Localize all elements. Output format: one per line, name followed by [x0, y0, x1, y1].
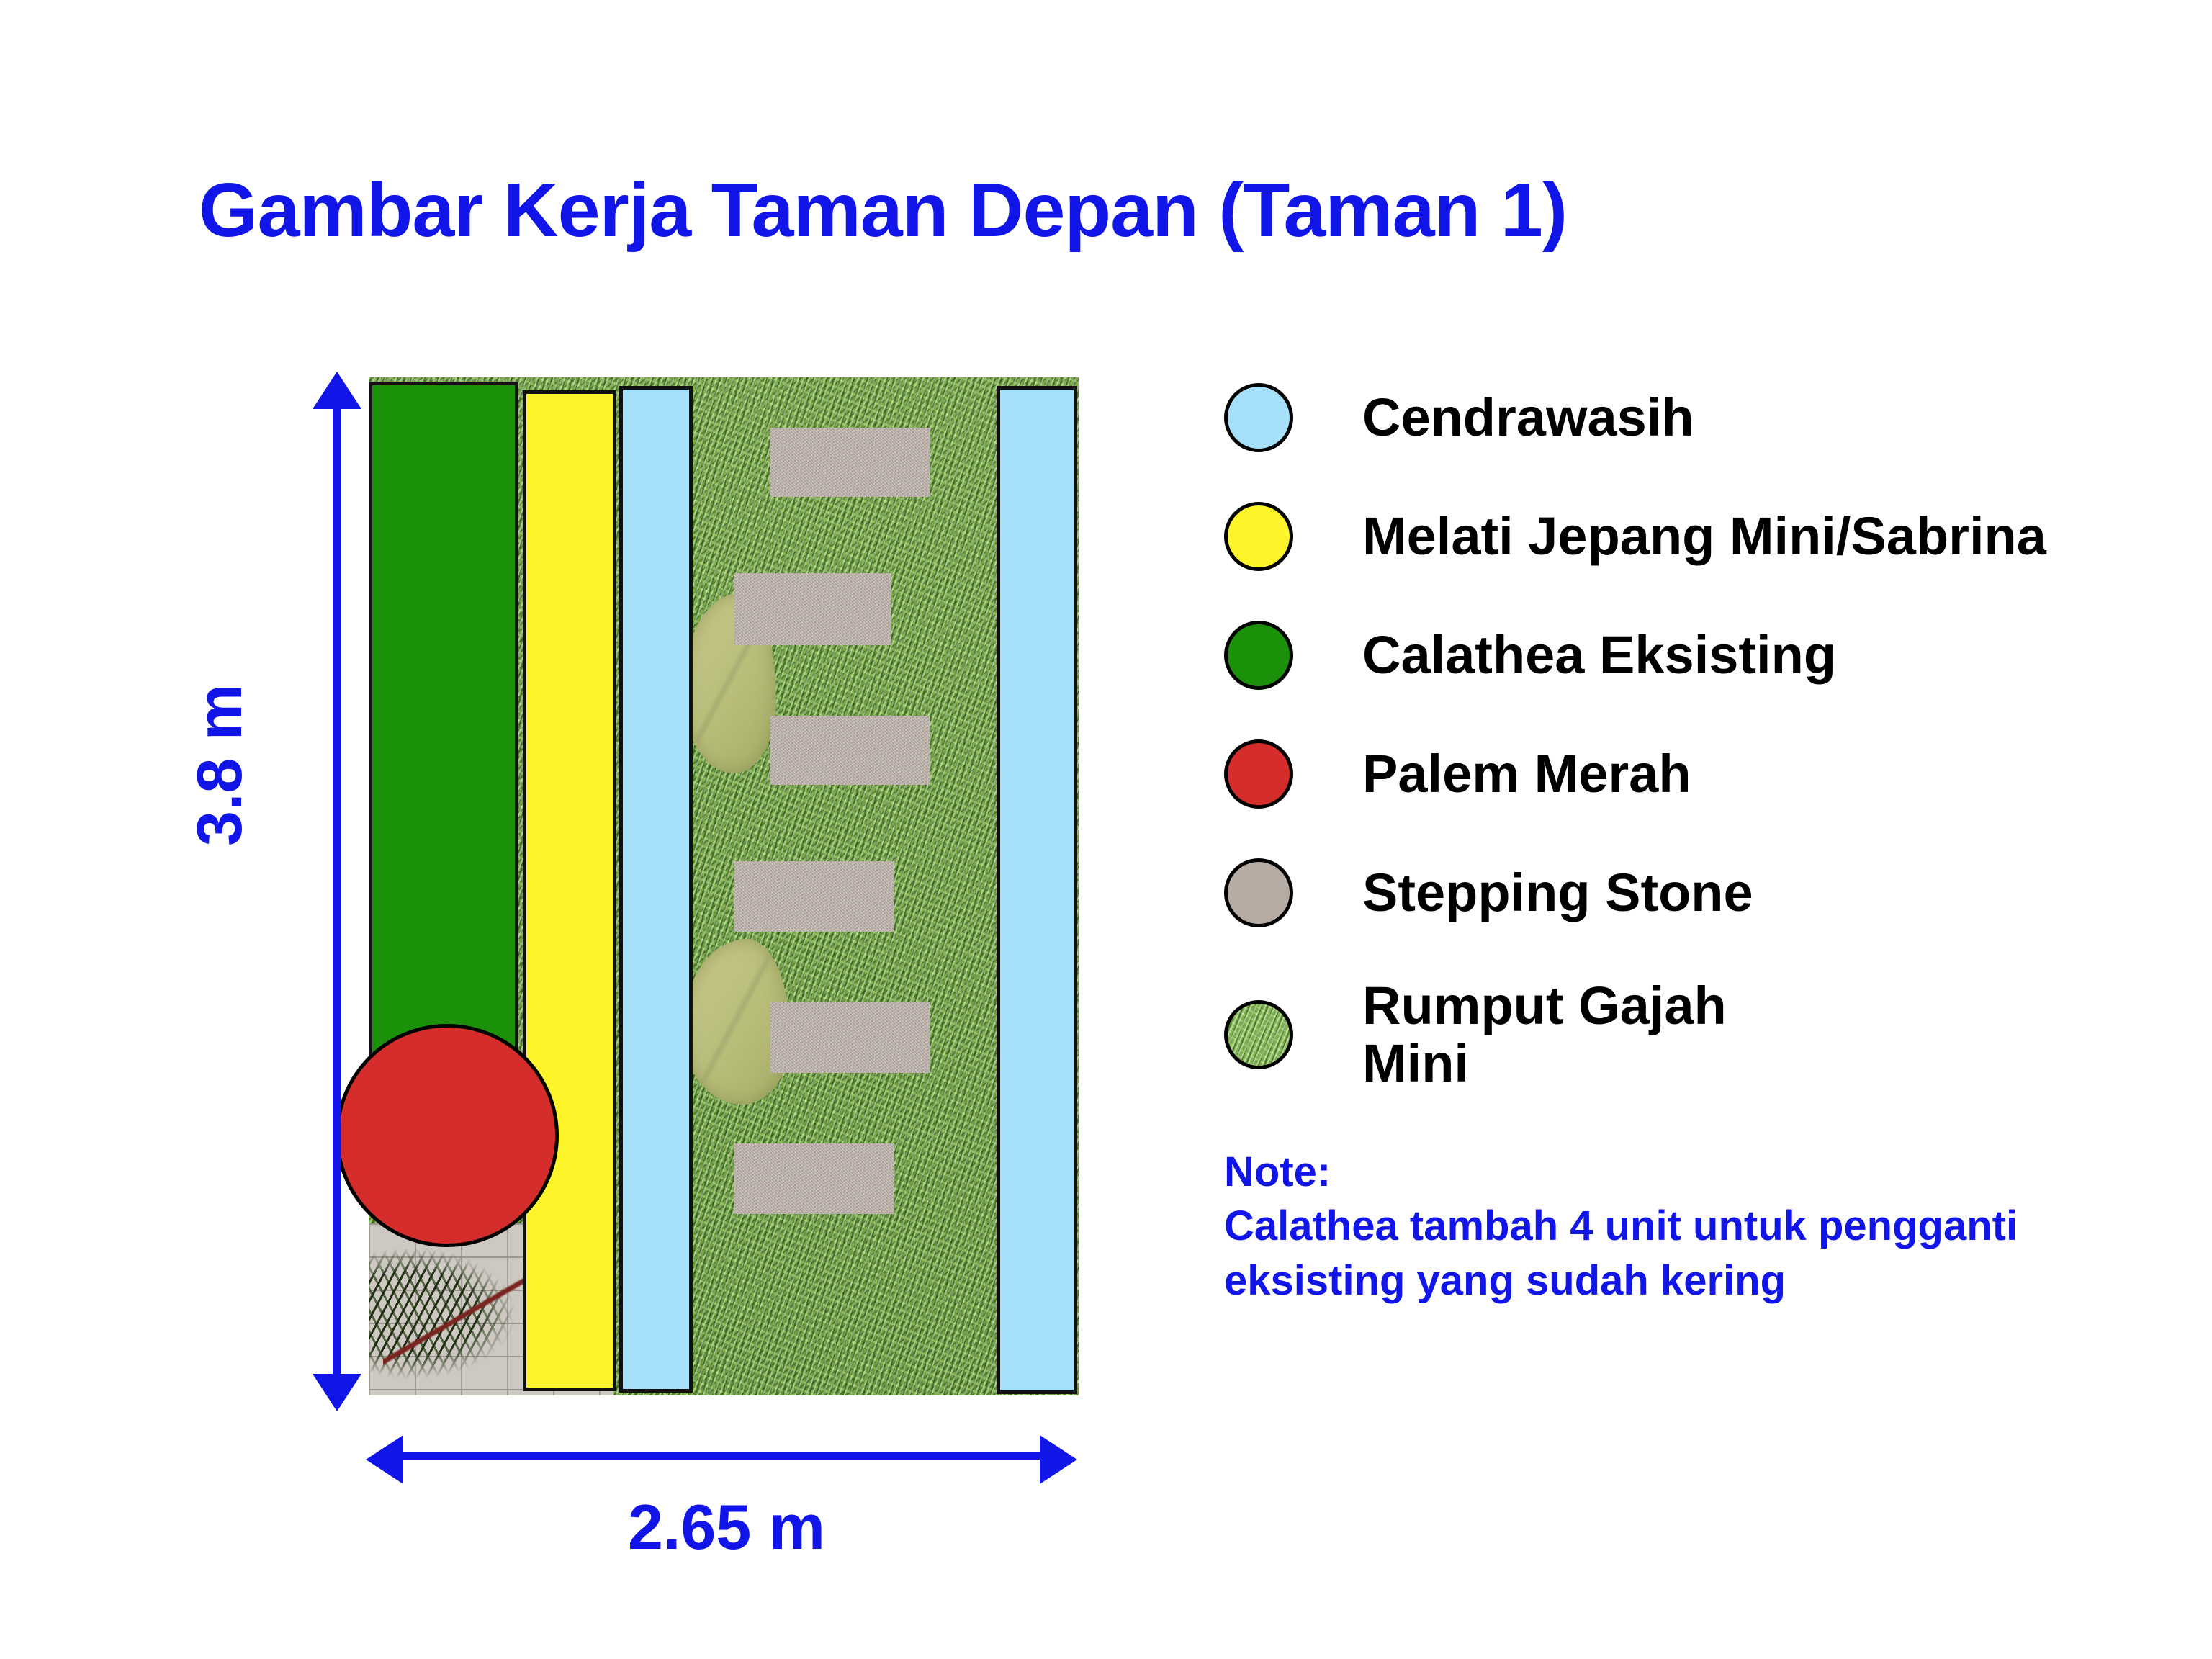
garden-plan-drawing: [369, 377, 1079, 1395]
legend-label-palem-merah: Palem Merah: [1362, 745, 1691, 803]
legend-label-rumput-gajah-mini: Rumput Gajah Mini: [1362, 977, 1727, 1092]
stepping-stone: [734, 861, 894, 932]
legend-label-calathea-eksisting: Calathea Eksisting: [1362, 626, 1836, 684]
vertical-dimension-arrow-bottom: [313, 1374, 361, 1411]
legend-item-melati-jepang-mini: Melati Jepang Mini/Sabrina: [1224, 502, 2046, 571]
note-block: Note: Calathea tambah 4 unit untuk pengg…: [1224, 1145, 2018, 1308]
vertical-dimension-label: 3.8 m: [183, 684, 256, 846]
legend-label-melati-jepang-mini: Melati Jepang Mini/Sabrina: [1362, 508, 2046, 565]
vertical-dimension-line: [333, 403, 341, 1381]
legend-swatch-melati-jepang-mini: [1224, 502, 1293, 571]
vertical-dimension-arrow-top: [313, 372, 361, 409]
legend-swatch-rumput-gajah-mini: [1224, 1000, 1293, 1069]
legend-label-stepping-stone: Stepping Stone: [1362, 864, 1753, 922]
legend-swatch-calathea-eksisting: [1224, 621, 1293, 690]
note-heading: Note:: [1224, 1145, 2018, 1199]
band-cendrawasih-right: [997, 386, 1077, 1394]
palem-merah-marker: [336, 1024, 559, 1247]
legend-item-calathea-eksisting: Calathea Eksisting: [1224, 621, 1836, 690]
legend-item-stepping-stone: Stepping Stone: [1224, 858, 1753, 927]
legend-swatch-stepping-stone: [1224, 858, 1293, 927]
band-cendrawasih-left: [619, 386, 693, 1393]
note-line-2: eksisting yang sudah kering: [1224, 1254, 2018, 1308]
horizontal-dimension-arrow-right: [1040, 1435, 1077, 1484]
horizontal-dimension-label: 2.65 m: [628, 1491, 825, 1564]
stepping-stone: [770, 716, 930, 785]
palm-stem: [383, 1241, 541, 1393]
page-title: Gambar Kerja Taman Depan (Taman 1): [199, 167, 1567, 254]
legend-swatch-cendrawasih: [1224, 383, 1293, 452]
note-line-1: Calathea tambah 4 unit untuk pengganti: [1224, 1199, 2018, 1253]
legend-swatch-palem-merah: [1224, 739, 1293, 809]
legend-item-rumput-gajah-mini: Rumput Gajah Mini: [1224, 977, 1727, 1092]
stepping-stone: [734, 1143, 894, 1214]
band-calathea-eksisting: [369, 382, 518, 1116]
legend-label-rumput-gajah-mini-line1: Rumput Gajah: [1362, 976, 1727, 1035]
stepping-stone: [734, 573, 891, 645]
stepping-stone: [770, 428, 930, 497]
legend-item-palem-merah: Palem Merah: [1224, 739, 1691, 809]
band-melati-jepang-mini: [523, 390, 616, 1391]
horizontal-dimension-line: [402, 1452, 1046, 1460]
legend-label-rumput-gajah-mini-line2: Mini: [1362, 1033, 1469, 1093]
horizontal-dimension-arrow-left: [366, 1435, 403, 1484]
stepping-stone: [770, 1002, 930, 1073]
legend-label-cendrawasih: Cendrawasih: [1362, 389, 1694, 446]
legend-item-cendrawasih: Cendrawasih: [1224, 383, 1694, 452]
